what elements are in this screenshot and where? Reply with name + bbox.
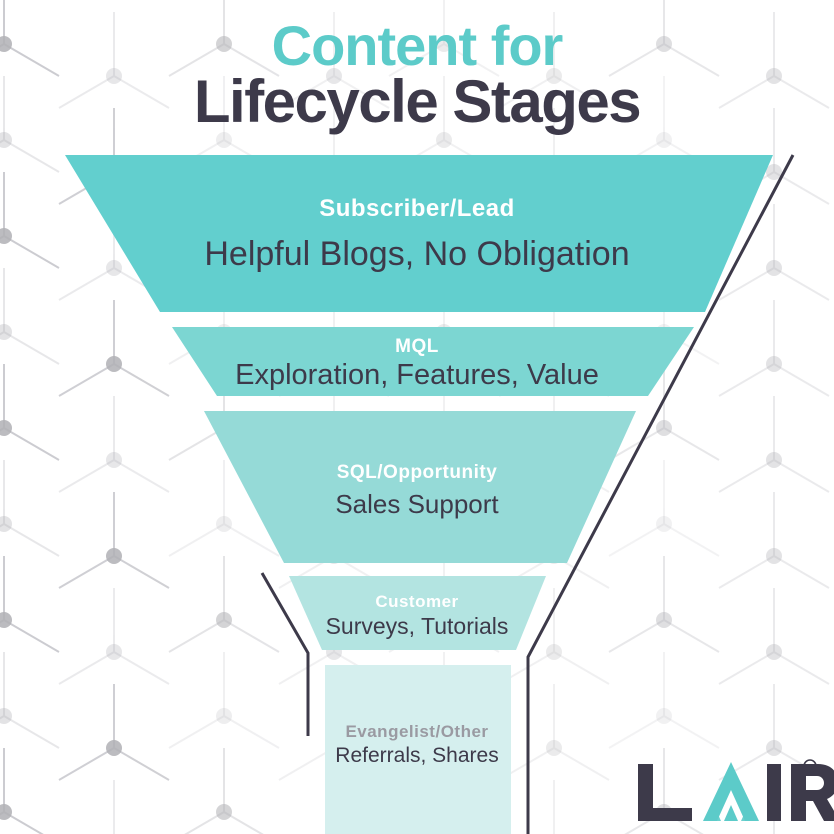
stage-description-customer: Surveys, Tutorials [0, 615, 834, 638]
stage-label-mql: MQL [0, 337, 834, 356]
stage-label-customer: Customer [0, 593, 834, 610]
stage-description-mql: Exploration, Features, Value [0, 361, 834, 390]
text-layer: Content for Lifecycle Stages Subscriber/… [0, 0, 834, 834]
infographic-canvas: Content for Lifecycle Stages Subscriber/… [0, 0, 834, 834]
stage-label-subscriber-lead: Subscriber/Lead [0, 197, 834, 221]
page-title-line-1: Content for [0, 18, 834, 74]
stage-description-sql-opportunity: Sales Support [0, 491, 834, 517]
page-title-line-2: Lifecycle Stages [0, 72, 834, 132]
stage-label-sql-opportunity: SQL/Opportunity [0, 463, 834, 482]
stage-description-subscriber-lead: Helpful Blogs, No Obligation [0, 237, 834, 271]
stage-label-evangelist-other: Evangelist/Other [0, 723, 834, 740]
stage-description-evangelist-other: Referrals, Shares [0, 745, 834, 766]
